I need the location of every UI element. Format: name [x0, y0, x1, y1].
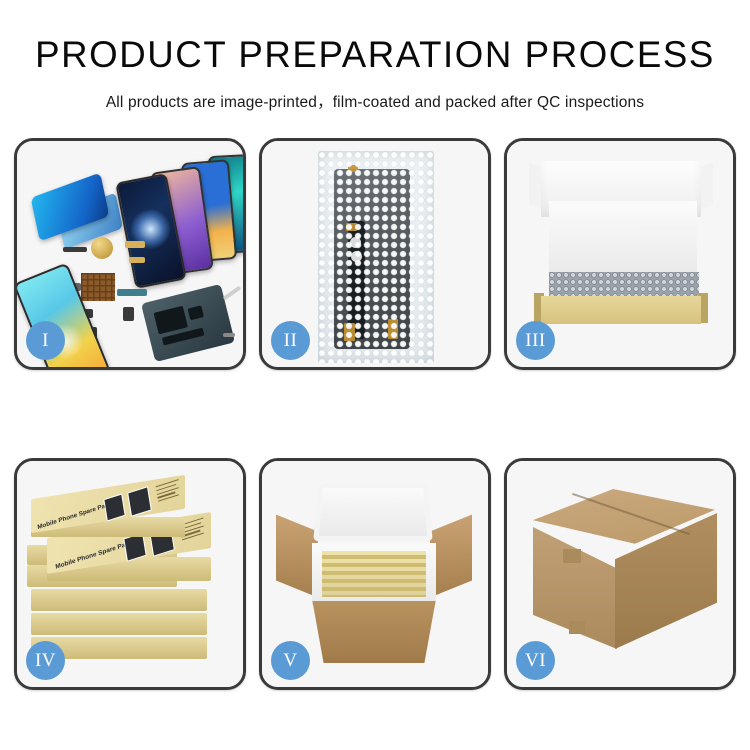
small-part-icon: [63, 247, 87, 252]
step-badge-6: VI: [516, 641, 555, 680]
ribbon-cable-part-icon: [117, 289, 147, 296]
box-bullets-1: [156, 479, 182, 504]
box-thumb-1a: [103, 493, 125, 521]
bubble-wrap-bag-icon: [318, 151, 434, 363]
step-panel-4[interactable]: Mobile Phone Spare Parts Mobile Phone Sp…: [14, 458, 246, 690]
step-badge-2: II: [271, 321, 310, 360]
step-badge-1: I: [26, 321, 65, 360]
gold-connector-part-icon: [129, 257, 145, 263]
bubble-texture: [318, 151, 434, 363]
tweezers-icon: [223, 286, 242, 301]
step-panel-5[interactable]: V: [259, 458, 491, 690]
carton-front-icon: [304, 601, 444, 663]
page-title: PRODUCT PREPARATION PROCESS: [4, 36, 747, 73]
page-header: PRODUCT PREPARATION PROCESS All products…: [0, 0, 750, 112]
stacked-box-5: [31, 613, 207, 635]
chip-grid-part-icon: [81, 273, 115, 301]
screw-part-icon: [223, 333, 235, 337]
step-panel-2[interactable]: II: [259, 138, 491, 370]
carton-tape-upper-icon: [563, 549, 581, 563]
styrofoam-lid-icon: [313, 483, 432, 541]
carton-right-flap-icon: [430, 515, 472, 598]
phone-motherboard-icon: [141, 284, 235, 362]
white-foam-sheet-icon: [549, 201, 697, 273]
step-badge-5: V: [271, 641, 310, 680]
step-badge-4: IV: [26, 641, 65, 680]
step-panel-1[interactable]: I: [14, 138, 246, 370]
sensor-part-icon: [123, 307, 134, 321]
coil-part-icon: [91, 237, 113, 259]
stacked-box-4: [31, 589, 207, 611]
carton-tape-lower-icon: [569, 621, 585, 634]
gold-flex-part-icon: [125, 241, 145, 248]
bubble-wrapped-contents-icon: [549, 272, 699, 298]
page-subtitle: All products are image-printed，film-coat…: [0, 90, 750, 112]
step-badge-3: III: [516, 321, 555, 360]
yellow-boxes-inside-icon: [322, 551, 426, 597]
step-panel-6[interactable]: VI: [504, 458, 736, 690]
box-thumb-1b: [127, 486, 152, 517]
process-step-grid: I II: [14, 138, 736, 690]
step-panel-3[interactable]: III: [504, 138, 736, 370]
yellow-box-front-icon: [541, 296, 701, 324]
